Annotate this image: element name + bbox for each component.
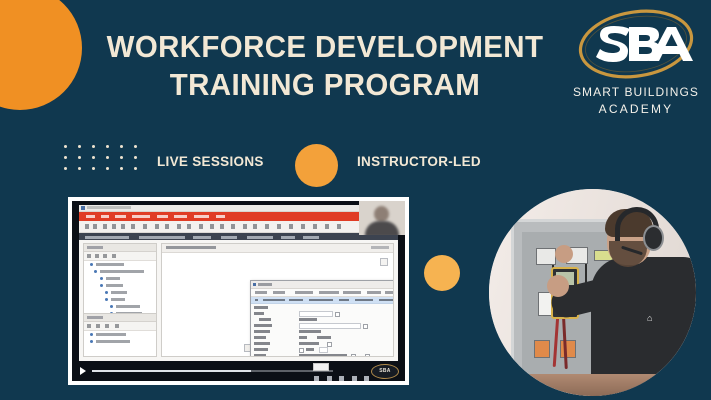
video-control-icons[interactable] [311,368,369,381]
tree-panel-header [84,244,156,252]
theater-mode-icon[interactable] [352,376,357,381]
promo-poster: WORKFORCE DEVELOPMENT TRAINING PROGRAM L… [0,0,711,400]
dialog-property-row[interactable] [251,352,394,357]
dialog-column-headers [251,289,394,297]
palette-item[interactable] [84,338,156,345]
app-toolbar[interactable] [79,221,398,233]
webcam-overlay [359,201,405,235]
page-title-line-1: WORKFORCE DEVELOPMENT [102,28,549,66]
panel-controller-device [536,248,556,265]
app-window-title [87,206,131,209]
badge-live-sessions: LIVE SESSIONS [157,154,264,169]
dialog-selected-row[interactable] [251,297,394,304]
fullscreen-icon[interactable] [364,376,369,381]
video-controls-bar[interactable]: SBA [74,362,403,379]
panel-relay-orange [534,340,550,358]
badge-instructor-led: INSTRUCTOR-LED [357,154,481,169]
volume-icon[interactable] [314,376,319,381]
play-icon[interactable] [80,367,86,375]
palette-toolbar[interactable] [84,322,156,331]
dialog-icon [253,283,256,286]
sba-logo-line-1: SMART BUILDINGS [567,85,705,99]
technician-photo: ⌂ [489,189,696,396]
panel-relay-orange [560,340,576,358]
palette-item[interactable] [84,331,156,338]
palette-panel-header [84,314,156,322]
video-inner: × [72,201,405,381]
video-watermark: SBA [371,364,399,379]
captions-icon[interactable] [327,376,332,381]
dialog-title-text [258,283,272,286]
app-titlebar [79,205,398,212]
technician-figure: ⌂ [585,209,696,396]
video-progress-bar[interactable] [92,370,333,372]
orange-circle-between-badges [295,144,338,187]
webcam-presenter-head [374,206,389,222]
tree-item[interactable] [84,289,156,296]
orange-circle-top-left [0,0,82,110]
technician-hand [547,275,569,297]
page-title-line-2: TRAINING PROGRAM [102,66,549,104]
tree-item[interactable] [84,282,156,289]
tree-item[interactable] [84,303,156,310]
dot-grid-decoration [64,145,148,178]
video-screenshot-panel[interactable]: × [68,197,409,385]
tree-panel-toolbar[interactable] [84,252,156,261]
object-editor-add-button[interactable] [380,258,388,266]
webcam-presenter-body [365,221,399,235]
tree-item[interactable] [84,261,156,268]
shirt-logo-icon: ⌂ [647,313,663,323]
headset-earcup-icon [643,225,664,251]
sba-logo-mark-icon [567,6,705,86]
technician-hand [555,245,573,263]
app-body: × [79,240,398,361]
tree-item[interactable] [84,296,156,303]
tree-item[interactable] [84,268,156,275]
property-edit-dialog[interactable]: × [250,280,394,357]
tree-item[interactable] [84,275,156,282]
app-window-icon [81,206,85,210]
app-menubar[interactable] [79,212,398,221]
sba-logo: SMART BUILDINGS ACADEMY [567,6,705,126]
building-automation-app-window: × [79,205,398,361]
photo-floor [489,374,696,396]
object-editor-header [162,244,393,253]
sba-logo-line-2: ACADEMY [567,102,705,116]
palette-panel[interactable] [83,313,157,357]
page-title: WORKFORCE DEVELOPMENT TRAINING PROGRAM [102,28,549,104]
orange-circle-lower [424,255,460,291]
object-editor-panel[interactable]: × [161,243,394,357]
dialog-titlebar: × [251,281,394,289]
settings-gear-icon[interactable] [339,376,344,381]
